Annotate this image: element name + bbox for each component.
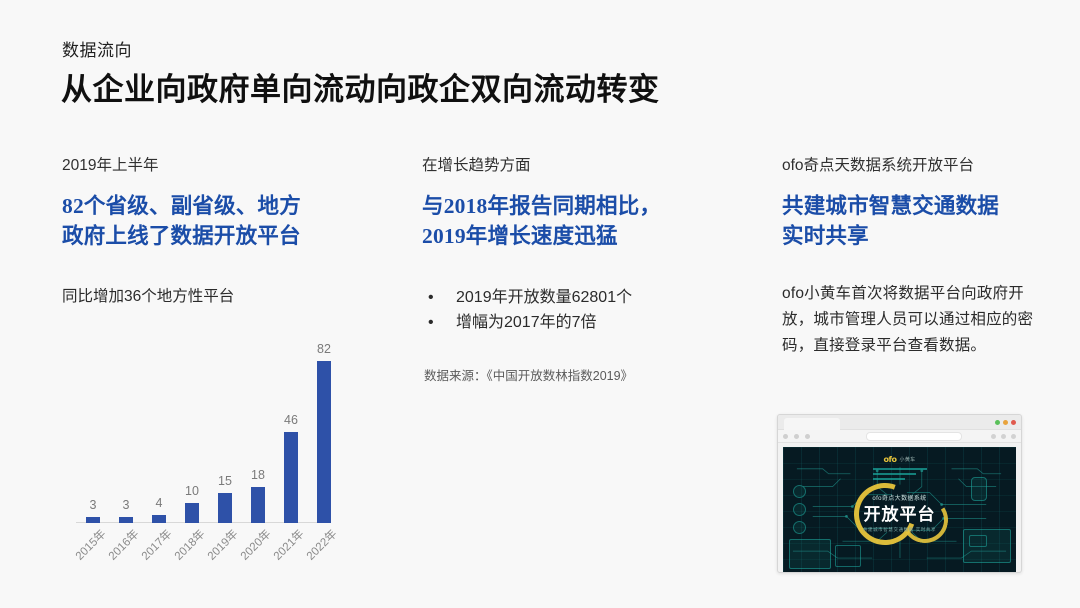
chart-x-tick-label: 2021年	[267, 528, 307, 568]
ofo-logo-subtext: 小黄车	[900, 456, 916, 463]
chart-x-tick-label: 2019年	[201, 528, 241, 568]
hud-panel-right-2	[969, 535, 987, 547]
window-close-icon[interactable]	[1011, 420, 1016, 425]
chart-bar-group: 3	[119, 331, 133, 523]
column-two-eyebrow: 在增长趋势方面	[422, 155, 752, 177]
chart-x-tick-label: 2022年	[300, 528, 340, 568]
slide-kicker: 数据流向	[62, 39, 132, 63]
browser-action-icons[interactable]	[991, 434, 1016, 439]
chart-bar-group: 82	[317, 331, 331, 523]
reload-icon[interactable]	[805, 434, 810, 439]
hud-panel-left-2	[835, 545, 861, 567]
chart-bar-value-label: 15	[218, 474, 232, 488]
column-three-body: ofo小黄车首次将数据平台向政府开放，城市管理人员可以通过相应的密码，直接登录平…	[782, 281, 1040, 359]
chart-bar	[119, 517, 133, 523]
column-three-title-line2: 实时共享	[782, 221, 1042, 251]
hud-panel-left	[789, 539, 831, 569]
list-item: • 增幅为2017年的7倍	[426, 310, 746, 335]
column-three-title: 共建城市智慧交通数据 实时共享	[782, 191, 1042, 251]
chart-x-tick-label: 2016年	[102, 528, 142, 568]
chart-bar-value-label: 3	[90, 498, 97, 512]
chart-bar-group: 4	[152, 331, 166, 523]
page-accent-bars	[873, 468, 927, 483]
column-three-eyebrow: ofo奇点天数据系统开放平台	[782, 155, 1042, 177]
chart-plot-area: 3341015184682	[62, 330, 330, 523]
accent-bar	[873, 473, 916, 475]
user-icon[interactable]	[1001, 434, 1006, 439]
list-item: • 2019年开放数量62801个	[426, 285, 746, 310]
ofo-logo-icon: ofo	[884, 455, 897, 464]
column-three: ofo奇点天数据系统开放平台 共建城市智慧交通数据 实时共享	[782, 155, 1042, 251]
chart-x-tick-label: 2017年	[135, 528, 175, 568]
window-controls[interactable]	[995, 420, 1016, 425]
chart-bar-value-label: 3	[123, 498, 130, 512]
chart-bar-group: 10	[185, 331, 199, 523]
accent-bar	[873, 478, 905, 480]
chart-bar	[317, 361, 331, 523]
chart-bar-value-label: 18	[251, 468, 265, 482]
forward-arrow-icon[interactable]	[794, 434, 799, 439]
browser-tab-bar	[778, 415, 1021, 430]
menu-icon[interactable]	[1011, 434, 1016, 439]
column-two-bullet-list: • 2019年开放数量62801个 • 增幅为2017年的7倍	[426, 285, 746, 335]
column-one-title: 82个省级、副省级、地方 政府上线了数据开放平台	[62, 191, 382, 251]
slide-canvas: 数据流向 从企业向政府单向流动向政企双向流动转变 2019年上半年 82个省级、…	[0, 0, 1080, 608]
column-one-title-line2: 政府上线了数据开放平台	[62, 221, 382, 251]
chart-x-tick-label: 2018年	[168, 528, 208, 568]
column-one-eyebrow: 2019年上半年	[62, 155, 382, 177]
window-minimize-icon[interactable]	[995, 420, 1000, 425]
browser-screenshot-mockup: ofo 小黄车 ofo奇点大数据系统 开放平台 共建城市智慧交通数据 实时共享	[777, 414, 1022, 573]
page-logo: ofo 小黄车	[884, 455, 916, 464]
chart-bar-value-label: 82	[317, 342, 331, 356]
chart-bar-group: 18	[251, 331, 265, 523]
chart-bar-value-label: 4	[156, 496, 163, 510]
accent-bar	[873, 468, 927, 470]
page-hero-title: 开放平台	[783, 504, 1016, 526]
page-hero-kicker: ofo奇点大数据系统	[783, 495, 1016, 504]
column-two: 在增长趋势方面 与2018年报告同期相比， 2019年增长速度迅猛	[422, 155, 752, 251]
chart-bar	[185, 503, 199, 523]
browser-page-content: ofo 小黄车 ofo奇点大数据系统 开放平台 共建城市智慧交通数据 实时共享	[783, 447, 1016, 573]
page-hero-tagline: 共建城市智慧交通数据 实时共享	[783, 526, 1016, 534]
column-two-title-line2: 2019年增长速度迅猛	[422, 221, 752, 251]
column-one-note: 同比增加36个地方性平台	[62, 285, 234, 309]
address-bar[interactable]	[866, 432, 962, 441]
back-arrow-icon[interactable]	[783, 434, 788, 439]
slide-headline: 从企业向政府单向流动向政企双向流动转变	[61, 70, 660, 110]
column-two-title-line1: 与2018年报告同期相比，	[422, 191, 752, 221]
browser-nav-buttons[interactable]	[783, 434, 810, 439]
chart-bar	[86, 517, 100, 523]
window-maximize-icon[interactable]	[1003, 420, 1008, 425]
open-platform-bar-chart: 3341015184682 2015年2016年2017年2018年2019年2…	[62, 330, 342, 580]
data-source-note: 数据来源：《中国开放数林指数2019》	[424, 367, 633, 385]
bullet-text: 2019年开放数量62801个	[456, 289, 632, 306]
chart-bar-value-label: 46	[284, 413, 298, 427]
chart-bar-value-label: 10	[185, 484, 199, 498]
page-hero-text: ofo奇点大数据系统 开放平台 共建城市智慧交通数据 实时共享	[783, 495, 1016, 534]
column-one-title-line1: 82个省级、副省级、地方	[62, 191, 382, 221]
star-icon[interactable]	[991, 434, 996, 439]
bullet-dot-icon: •	[428, 285, 434, 310]
column-two-title: 与2018年报告同期相比， 2019年增长速度迅猛	[422, 191, 752, 251]
column-one: 2019年上半年 82个省级、副省级、地方 政府上线了数据开放平台	[62, 155, 382, 251]
chart-bar	[251, 487, 265, 523]
chart-x-tick-label: 2020年	[234, 528, 274, 568]
chart-bar-group: 15	[218, 331, 232, 523]
browser-toolbar	[778, 430, 1021, 443]
column-three-title-line1: 共建城市智慧交通数据	[782, 191, 1042, 221]
chart-bar	[152, 515, 166, 523]
chart-bar	[218, 493, 232, 523]
chart-x-tick-label: 2015年	[69, 528, 109, 568]
browser-tab[interactable]	[784, 418, 840, 430]
bullet-dot-icon: •	[428, 310, 434, 335]
bullet-text: 增幅为2017年的7倍	[456, 314, 597, 331]
chart-bar	[284, 432, 298, 523]
chart-bar-group: 3	[86, 331, 100, 523]
chart-bar-group: 46	[284, 331, 298, 523]
